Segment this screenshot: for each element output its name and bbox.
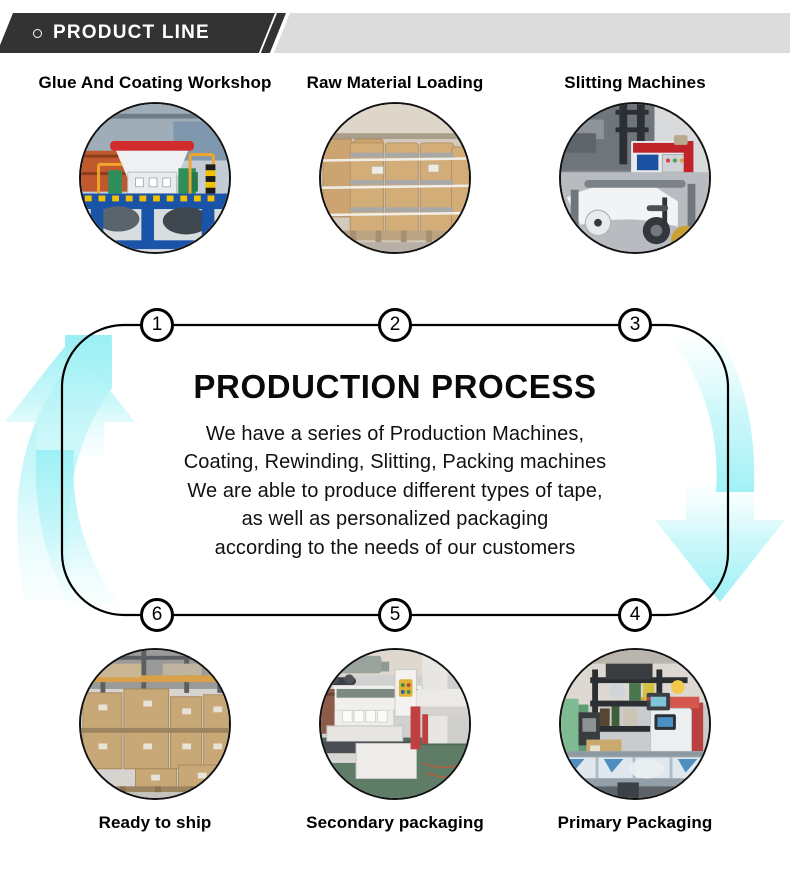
process-line-2: Coating, Rewinding, Slitting, Packing ma… (120, 448, 670, 476)
photo-raw-material-loading (319, 102, 471, 254)
process-card-raw-material-loading: Raw Material Loading (275, 72, 515, 254)
bottom-photo-row: Ready to ship (0, 648, 790, 834)
production-process-loop: 1 2 3 6 5 4 PRODUCTION PROCESS We have a… (0, 300, 790, 635)
caption-slitting-machines: Slitting Machines (564, 72, 706, 94)
process-card-glue-and-coating-workshop: Glue And Coating Workshop (35, 72, 275, 254)
process-card-slitting-machines: Slitting Machines (515, 72, 755, 254)
process-line-5: according to the needs of our customers (120, 534, 670, 562)
process-line-4: as well as personalized packaging (120, 505, 670, 533)
photo-slitting-machines (559, 102, 711, 254)
process-line-1: We have a series of Production Machines, (120, 420, 670, 448)
caption-ready-to-ship: Ready to ship (99, 812, 212, 834)
product-line-header: PRODUCT LINE (0, 13, 790, 53)
caption-glue-and-coating-workshop: Glue And Coating Workshop (39, 72, 272, 94)
process-line-3: We are able to produce different types o… (120, 477, 670, 505)
header-label-group: PRODUCT LINE (33, 13, 210, 53)
photo-glue-and-coating-workshop (79, 102, 231, 254)
page-title: PRODUCT LINE (53, 22, 210, 44)
header-gray-band-skew (274, 13, 790, 53)
step-number-4: 4 (618, 598, 652, 632)
process-title: PRODUCTION PROCESS (120, 368, 670, 406)
step-number-5: 5 (378, 598, 412, 632)
process-card-primary-packaging: Primary Packaging (515, 648, 755, 834)
top-photo-row: Glue And Coating Workshop (0, 72, 790, 254)
step-number-3: 3 (618, 308, 652, 342)
caption-primary-packaging: Primary Packaging (558, 812, 713, 834)
photo-secondary-packaging (319, 648, 471, 800)
caption-secondary-packaging: Secondary packaging (306, 812, 484, 834)
arrow-right-down-icon (655, 337, 785, 602)
arrow-left-up-icon (5, 335, 135, 605)
step-number-2: 2 (378, 308, 412, 342)
step-number-1: 1 (140, 308, 174, 342)
process-text-block: PRODUCTION PROCESS We have a series of P… (120, 368, 670, 562)
photo-primary-packaging (559, 648, 711, 800)
caption-raw-material-loading: Raw Material Loading (307, 72, 484, 94)
photo-ready-to-ship (79, 648, 231, 800)
circle-outline-icon (33, 29, 42, 38)
process-card-secondary-packaging: Secondary packaging (275, 648, 515, 834)
process-card-ready-to-ship: Ready to ship (35, 648, 275, 834)
step-number-6: 6 (140, 598, 174, 632)
